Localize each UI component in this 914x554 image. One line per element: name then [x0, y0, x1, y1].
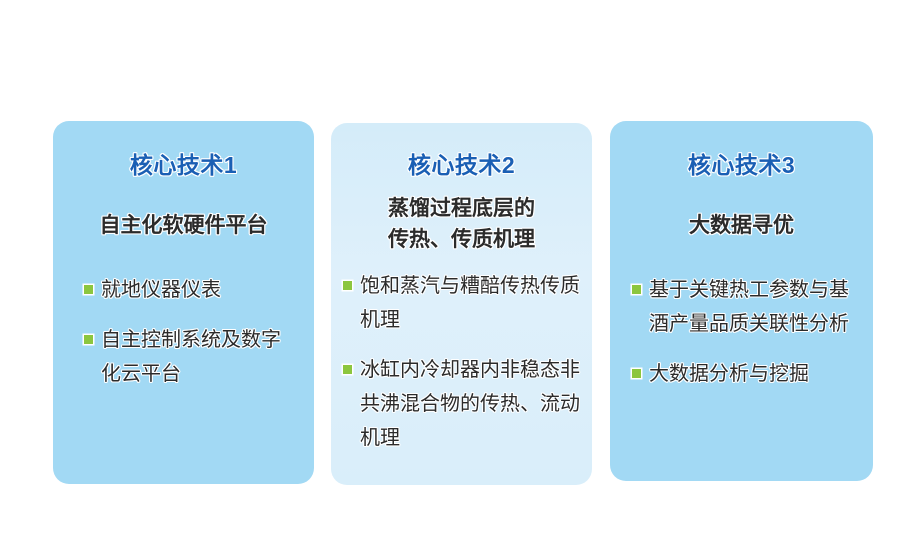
card-1-content: 核心技术1 自主化软硬件平台 就地仪器仪表 自主控制系统及数字化云平台 — [53, 121, 314, 484]
square-bullet-icon — [84, 335, 93, 344]
core-technology-card-2[interactable]: 核心技术2 蒸馏过程底层的 传热、传质机理 饱和蒸汽与糟醅传热传质机理 冰缸内冷… — [331, 123, 592, 485]
card-1-bullet-list: 就地仪器仪表 自主控制系统及数字化云平台 — [84, 273, 300, 391]
card-2-content: 核心技术2 蒸馏过程底层的 传热、传质机理 饱和蒸汽与糟醅传热传质机理 冰缸内冷… — [331, 123, 592, 485]
card-3-subtitle: 大数据寻优 — [610, 210, 873, 241]
card-3-title: 核心技术3 — [610, 146, 873, 180]
card-2-subtitle: 蒸馏过程底层的 传热、传质机理 — [331, 193, 592, 255]
card-3-content: 核心技术3 大数据寻优 基于关键热工参数与基酒产量品质关联性分析 大数据分析与挖… — [610, 121, 873, 481]
list-item: 就地仪器仪表 — [84, 273, 300, 307]
core-technology-card-1[interactable]: 核心技术1 自主化软硬件平台 就地仪器仪表 自主控制系统及数字化云平台 — [53, 121, 314, 484]
slide-canvas: 核心技术1 自主化软硬件平台 就地仪器仪表 自主控制系统及数字化云平台 核心技术… — [0, 0, 914, 554]
list-item: 冰缸内冷却器内非稳态非共沸混合物的传热、流动机理 — [343, 353, 582, 455]
list-item-label: 基于关键热工参数与基酒产量品质关联性分析 — [649, 273, 865, 341]
square-bullet-icon — [343, 281, 352, 290]
card-1-title: 核心技术1 — [53, 146, 314, 180]
list-item-label: 饱和蒸汽与糟醅传热传质机理 — [360, 269, 582, 337]
card-2-title: 核心技术2 — [331, 146, 592, 180]
list-item: 大数据分析与挖掘 — [632, 357, 865, 391]
square-bullet-icon — [84, 285, 93, 294]
list-item-label: 大数据分析与挖掘 — [649, 357, 865, 391]
list-item-label: 冰缸内冷却器内非稳态非共沸混合物的传热、流动机理 — [360, 353, 582, 455]
list-item-label: 自主控制系统及数字化云平台 — [101, 323, 300, 391]
square-bullet-icon — [632, 369, 641, 378]
card-2-bullet-list: 饱和蒸汽与糟醅传热传质机理 冰缸内冷却器内非稳态非共沸混合物的传热、流动机理 — [343, 269, 582, 455]
list-item: 基于关键热工参数与基酒产量品质关联性分析 — [632, 273, 865, 341]
list-item: 自主控制系统及数字化云平台 — [84, 323, 300, 391]
list-item-label: 就地仪器仪表 — [101, 273, 300, 307]
list-item: 饱和蒸汽与糟醅传热传质机理 — [343, 269, 582, 337]
card-1-subtitle: 自主化软硬件平台 — [53, 210, 314, 241]
square-bullet-icon — [343, 365, 352, 374]
card-3-bullet-list: 基于关键热工参数与基酒产量品质关联性分析 大数据分析与挖掘 — [632, 273, 865, 391]
core-technology-card-3[interactable]: 核心技术3 大数据寻优 基于关键热工参数与基酒产量品质关联性分析 大数据分析与挖… — [610, 121, 873, 481]
square-bullet-icon — [632, 285, 641, 294]
